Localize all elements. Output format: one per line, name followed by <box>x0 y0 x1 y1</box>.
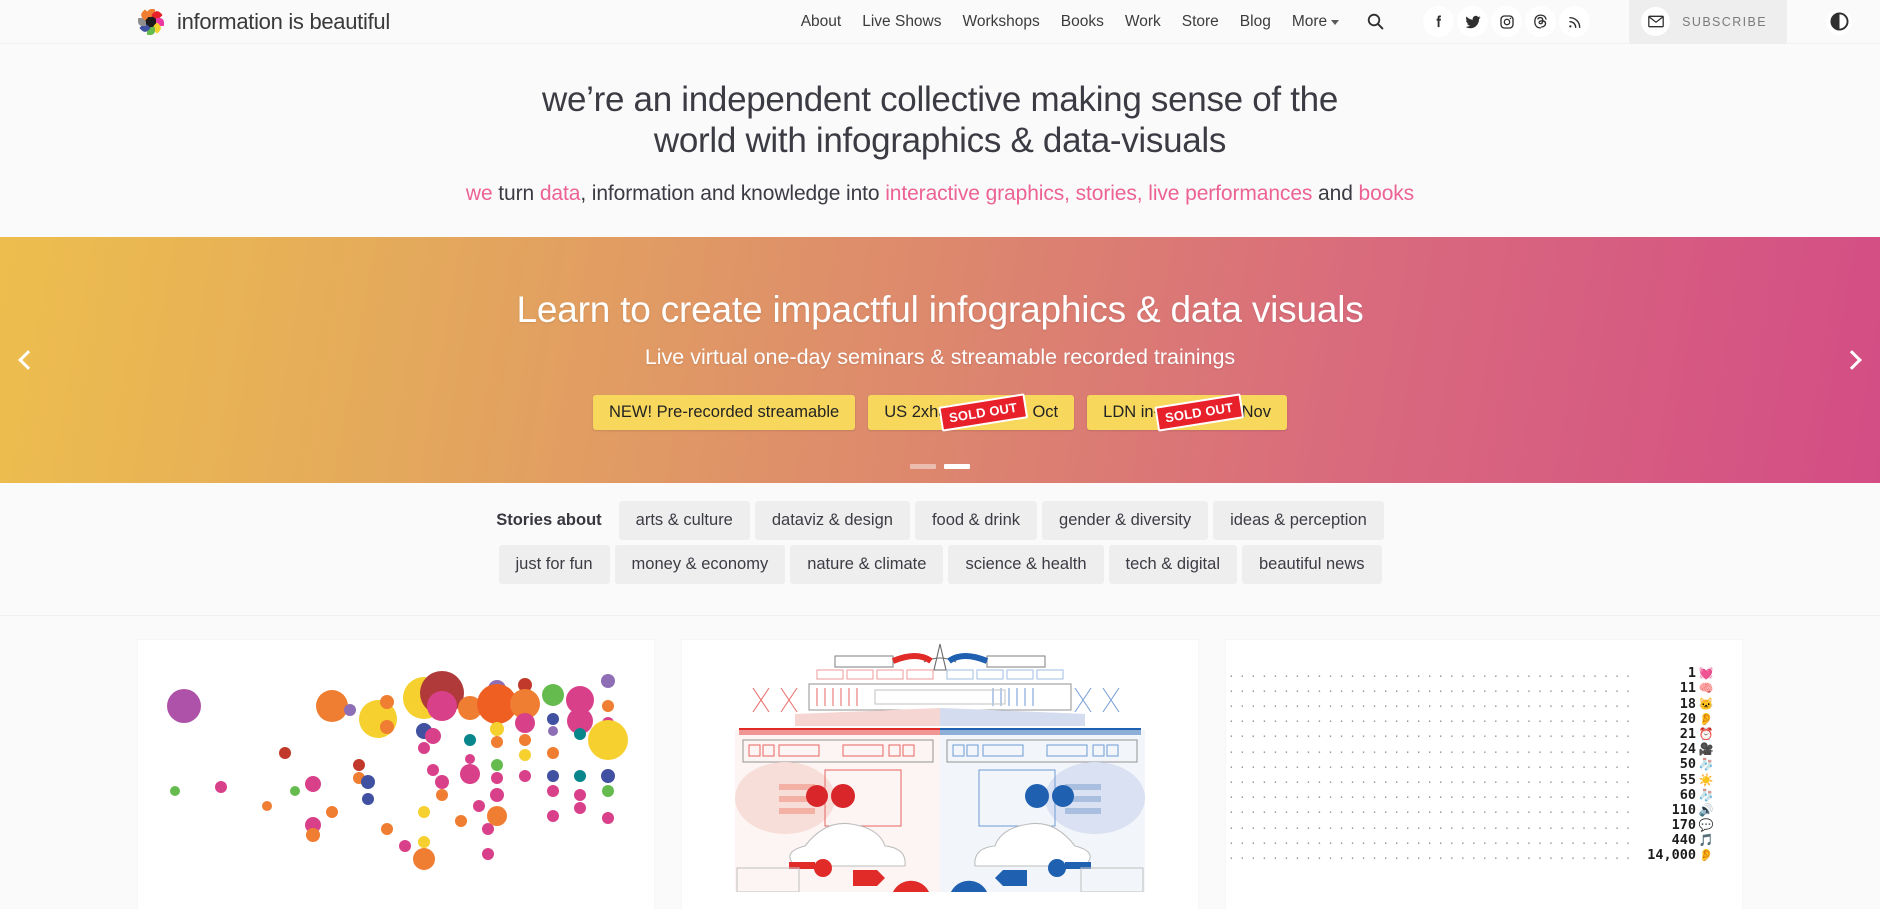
per-second-row: ........................................… <box>1228 802 1716 817</box>
story-card-grid: Major LLMs ranked by performance <box>0 616 1880 909</box>
per-second-emoji-icon: 🔊 <box>1696 803 1716 817</box>
bubble-point <box>602 812 614 824</box>
per-second-value: 50 <box>1636 756 1696 772</box>
nav-label: About <box>801 13 842 31</box>
carousel-next-button[interactable] <box>1832 340 1872 380</box>
per-second-value: 18 <box>1636 696 1696 712</box>
nav-item-live-shows[interactable]: Live Shows <box>862 13 941 31</box>
bubble-point <box>262 801 272 811</box>
per-second-row: ........................................… <box>1228 681 1716 696</box>
chevron-down-icon <box>1331 20 1339 25</box>
bubble-point <box>290 786 300 796</box>
social-links <box>1423 6 1590 37</box>
bubble-point <box>167 689 201 723</box>
bubble-point <box>418 836 430 848</box>
bubble-point <box>574 789 586 801</box>
dot-leader: ........................................… <box>1228 697 1636 710</box>
link-books[interactable]: books <box>1359 182 1415 205</box>
bubble-point <box>601 769 615 783</box>
dot-leader: ........................................… <box>1228 773 1636 786</box>
bubble-point <box>547 785 559 797</box>
dot-leader: ........................................… <box>1228 667 1636 680</box>
bubble-point <box>305 776 321 792</box>
dot-leader: ........................................… <box>1228 712 1636 725</box>
bubble-point <box>326 806 338 818</box>
per-second-row: ........................................… <box>1228 848 1716 863</box>
bubble-point <box>427 764 439 776</box>
bubble-point <box>380 720 394 734</box>
bubble-point <box>548 726 558 736</box>
per-second-emoji-icon: 🧦 <box>1696 757 1716 771</box>
bubble-point <box>170 786 180 796</box>
bubble-scatter-chart <box>138 640 654 892</box>
per-second-emoji-icon: 🎵 <box>1696 833 1716 847</box>
dot-leader: ........................................… <box>1228 849 1636 862</box>
category-filter: Stories about arts & culture dataviz & d… <box>0 483 1880 616</box>
chip-science-health[interactable]: science & health <box>948 545 1103 584</box>
per-second-row: ........................................… <box>1228 833 1716 848</box>
nav-label: Work <box>1125 13 1161 31</box>
per-second-value: 20 <box>1636 711 1696 727</box>
bubble-point <box>344 704 356 716</box>
badge-label: LDN in-person 8th Nov <box>1103 403 1271 421</box>
bubble-point <box>455 815 467 827</box>
chip-tech-digital[interactable]: tech & digital <box>1109 545 1237 584</box>
hero-subtitle: we turn data, information and knowledge … <box>0 180 1880 209</box>
bubble-point <box>316 690 348 722</box>
bubble-point <box>491 772 503 784</box>
per-second-row: ........................................… <box>1228 666 1716 681</box>
bubble-point <box>547 810 559 822</box>
rss-icon[interactable] <box>1559 6 1590 37</box>
nav-item-work[interactable]: Work <box>1125 13 1161 31</box>
nav-label: Live Shows <box>862 13 941 31</box>
bubble-point <box>574 728 586 740</box>
chip-dataviz-design[interactable]: dataviz & design <box>755 501 910 540</box>
bubble-point <box>547 747 559 759</box>
badge-label: US 2xhalf 11th/18th Oct <box>884 403 1058 421</box>
chip-money-economy[interactable]: money & economy <box>615 545 786 584</box>
chip-just-for-fun[interactable]: just for fun <box>499 545 610 584</box>
nav-item-books[interactable]: Books <box>1061 13 1104 31</box>
bubble-point <box>427 691 457 721</box>
promo-carousel: Learn to create impactful infographics &… <box>0 237 1880 483</box>
badge-label: NEW! Pre-recorded streamable <box>609 403 839 421</box>
per-second-emoji-icon: 🐱 <box>1696 697 1716 711</box>
badge-prerecorded[interactable]: NEW! Pre-recorded streamable <box>593 395 855 430</box>
per-second-row: ........................................… <box>1228 772 1716 787</box>
link-data[interactable]: data <box>540 182 580 205</box>
instagram-icon[interactable] <box>1491 6 1522 37</box>
chip-ideas-perception[interactable]: ideas & perception <box>1213 501 1384 540</box>
per-second-value: 21 <box>1636 726 1696 742</box>
hero-text-turn: turn <box>493 182 540 205</box>
facebook-icon[interactable] <box>1423 6 1454 37</box>
bubble-point <box>380 695 394 709</box>
bubble-point <box>418 806 430 818</box>
hero-title-line1: we’re an independent collective making s… <box>542 80 1338 119</box>
nav-item-store[interactable]: Store <box>1182 13 1219 31</box>
dot-leader: ........................................… <box>1228 743 1636 756</box>
bubble-point <box>588 720 628 760</box>
dot-leader: ........................................… <box>1228 819 1636 832</box>
bubble-point <box>490 722 504 736</box>
bubble-point <box>601 674 615 688</box>
chevron-right-icon <box>1842 350 1862 370</box>
bubble-point <box>381 823 393 835</box>
nav-label: Workshops <box>963 13 1040 31</box>
story-card-title: Left vs Right <box>682 892 1198 909</box>
red-blue-political-diagram <box>682 640 1198 892</box>
per-second-value: 55 <box>1636 772 1696 788</box>
bubble-point <box>436 789 448 801</box>
bubble-point <box>574 770 586 782</box>
per-second-emoji-icon: ☀️ <box>1696 773 1716 787</box>
per-second-emoji-icon: 🎥 <box>1696 742 1716 756</box>
carousel-indicators <box>910 464 970 469</box>
story-card-per-second[interactable]: ........................................… <box>1226 640 1742 909</box>
per-second-row: ........................................… <box>1228 696 1716 711</box>
link-live-performances[interactable]: live performances <box>1148 182 1312 205</box>
stories-about-label: Stories about <box>496 511 613 530</box>
badge-us-2xhalf[interactable]: US 2xhalf 11th/18th Oct SOLD OUT <box>868 395 1074 430</box>
brand-logo-link[interactable]: information is beautiful <box>138 9 390 35</box>
per-second-emoji-icon: 👂 <box>1696 712 1716 726</box>
link-we[interactable]: we <box>466 182 493 205</box>
contrast-toggle-icon[interactable] <box>1826 9 1852 35</box>
per-second-emoji-icon: 💬 <box>1696 818 1716 832</box>
banner-subheadline: Live virtual one-day seminars & streamab… <box>645 345 1235 370</box>
per-second-value: 14,000 <box>1636 847 1696 863</box>
twitter-icon[interactable] <box>1457 6 1488 37</box>
per-second-value: 11 <box>1636 680 1696 696</box>
bubble-point <box>460 764 480 784</box>
subscribe-label: SUBSCRIBE <box>1682 15 1767 29</box>
per-second-value: 110 <box>1636 802 1696 818</box>
bubble-point <box>490 788 504 802</box>
bubble-point <box>399 840 411 852</box>
per-second-row: ........................................… <box>1228 818 1716 833</box>
nav-item-about[interactable]: About <box>801 13 842 31</box>
chip-food-drink[interactable]: food & drink <box>915 501 1037 540</box>
bubble-point <box>215 781 227 793</box>
banner-badges: NEW! Pre-recorded streamable US 2xhalf 1… <box>593 395 1287 430</box>
per-second-value: 24 <box>1636 741 1696 757</box>
bubble-point <box>482 848 494 860</box>
bubble-point <box>491 759 503 771</box>
dot-leader: ........................................… <box>1228 682 1636 695</box>
threads-icon[interactable] <box>1525 6 1556 37</box>
bubble-point <box>515 713 535 733</box>
bubble-point <box>602 785 614 797</box>
brand-name: information is beautiful <box>177 9 390 35</box>
bubble-point <box>487 806 507 826</box>
bubble-point <box>362 793 374 805</box>
hero-text-and: and <box>1312 182 1358 205</box>
per-second-row: ........................................… <box>1228 787 1716 802</box>
per-second-value: 440 <box>1636 832 1696 848</box>
bubble-point <box>542 684 564 706</box>
bubble-point <box>519 770 531 782</box>
chip-gender-diversity[interactable]: gender & diversity <box>1042 501 1208 540</box>
per-second-emoji-icon: 🧦 <box>1696 788 1716 802</box>
bubble-point <box>361 775 375 789</box>
bubble-point <box>279 747 291 759</box>
bubble-point <box>473 800 485 812</box>
bubble-point <box>435 775 449 789</box>
nav-label: Blog <box>1240 13 1271 31</box>
bubble-point <box>491 736 503 748</box>
per-second-emoji-icon: ⏰ <box>1696 727 1716 741</box>
search-icon[interactable] <box>1360 7 1390 37</box>
main-nav: About Live Shows Workshops Books Work St… <box>801 0 1880 44</box>
bubble-point <box>574 802 586 814</box>
hero-sep-2: , <box>1137 182 1148 205</box>
dot-leader: ........................................… <box>1228 834 1636 847</box>
story-card-title: Major LLMs ranked by performance <box>138 892 654 909</box>
per-second-row: ........................................… <box>1228 711 1716 726</box>
bubble-point <box>464 734 476 746</box>
hero-title-line2: world with infographics & data-visuals <box>654 121 1226 160</box>
site-header: information is beautiful About Live Show… <box>0 0 1880 44</box>
nav-item-workshops[interactable]: Workshops <box>963 13 1040 31</box>
story-card-llms[interactable]: Major LLMs ranked by performance <box>138 640 654 909</box>
carousel-dot-2[interactable] <box>944 464 970 469</box>
chip-beautiful-news[interactable]: beautiful news <box>1242 545 1382 584</box>
bubble-point <box>425 728 441 744</box>
hero-sep-1: , <box>1064 182 1075 205</box>
chip-nature-climate[interactable]: nature & climate <box>790 545 943 584</box>
category-row-1: Stories about arts & culture dataviz & d… <box>0 501 1880 540</box>
hero-text-mid: , information and knowledge into <box>580 182 885 205</box>
page-title: we’re an independent collective making s… <box>0 80 1880 162</box>
per-second-row: ........................................… <box>1228 757 1716 772</box>
subscribe-button[interactable]: SUBSCRIBE <box>1629 0 1787 44</box>
per-second-value: 60 <box>1636 787 1696 803</box>
story-card-left-vs-right[interactable]: Left vs Right <box>682 640 1198 909</box>
bubble-point <box>519 734 531 746</box>
chevron-left-icon <box>18 350 38 370</box>
link-interactive-graphics[interactable]: interactive graphics <box>885 182 1064 205</box>
dot-leader: ........................................… <box>1228 803 1636 816</box>
bubble-point <box>306 828 320 842</box>
story-card-title: Per Second <box>1226 892 1742 909</box>
chip-arts-culture[interactable]: arts & culture <box>619 501 750 540</box>
per-second-dotted-list: ........................................… <box>1226 640 1742 892</box>
bubble-point <box>413 848 435 870</box>
bubble-point <box>547 713 559 725</box>
carousel-prev-button[interactable] <box>8 340 48 380</box>
nav-label: More <box>1292 13 1327 31</box>
bubble-point <box>519 749 531 761</box>
link-stories[interactable]: stories <box>1076 182 1137 205</box>
banner-headline: Learn to create impactful infographics &… <box>516 289 1363 331</box>
per-second-row: ........................................… <box>1228 742 1716 757</box>
carousel-dot-1[interactable] <box>910 464 936 469</box>
per-second-emoji-icon: 🧠 <box>1696 681 1716 695</box>
dot-leader: ........................................… <box>1228 788 1636 801</box>
per-second-emoji-icon: 👂 <box>1696 848 1716 862</box>
dot-leader: ........................................… <box>1228 758 1636 771</box>
per-second-value: 1 <box>1636 665 1696 681</box>
nav-label: Books <box>1061 13 1104 31</box>
per-second-value: 170 <box>1636 817 1696 833</box>
sunburst-logo-icon <box>138 9 164 35</box>
bubble-point <box>418 742 430 754</box>
per-second-emoji-icon: 💓 <box>1696 666 1716 680</box>
dot-leader: ........................................… <box>1228 727 1636 740</box>
badge-ldn-in-person[interactable]: LDN in-person 8th Nov SOLD OUT <box>1087 395 1287 430</box>
nav-item-blog[interactable]: Blog <box>1240 13 1271 31</box>
bubble-point <box>353 759 365 771</box>
envelope-icon <box>1641 7 1670 36</box>
bubble-point <box>602 700 614 712</box>
bubble-point <box>547 770 559 782</box>
bubble-point <box>465 754 475 764</box>
nav-label: Store <box>1182 13 1219 31</box>
category-row-2: just for fun money & economy nature & cl… <box>0 545 1880 584</box>
nav-item-more[interactable]: More <box>1292 13 1339 31</box>
hero-section: we’re an independent collective making s… <box>0 44 1880 237</box>
per-second-row: ........................................… <box>1228 726 1716 741</box>
